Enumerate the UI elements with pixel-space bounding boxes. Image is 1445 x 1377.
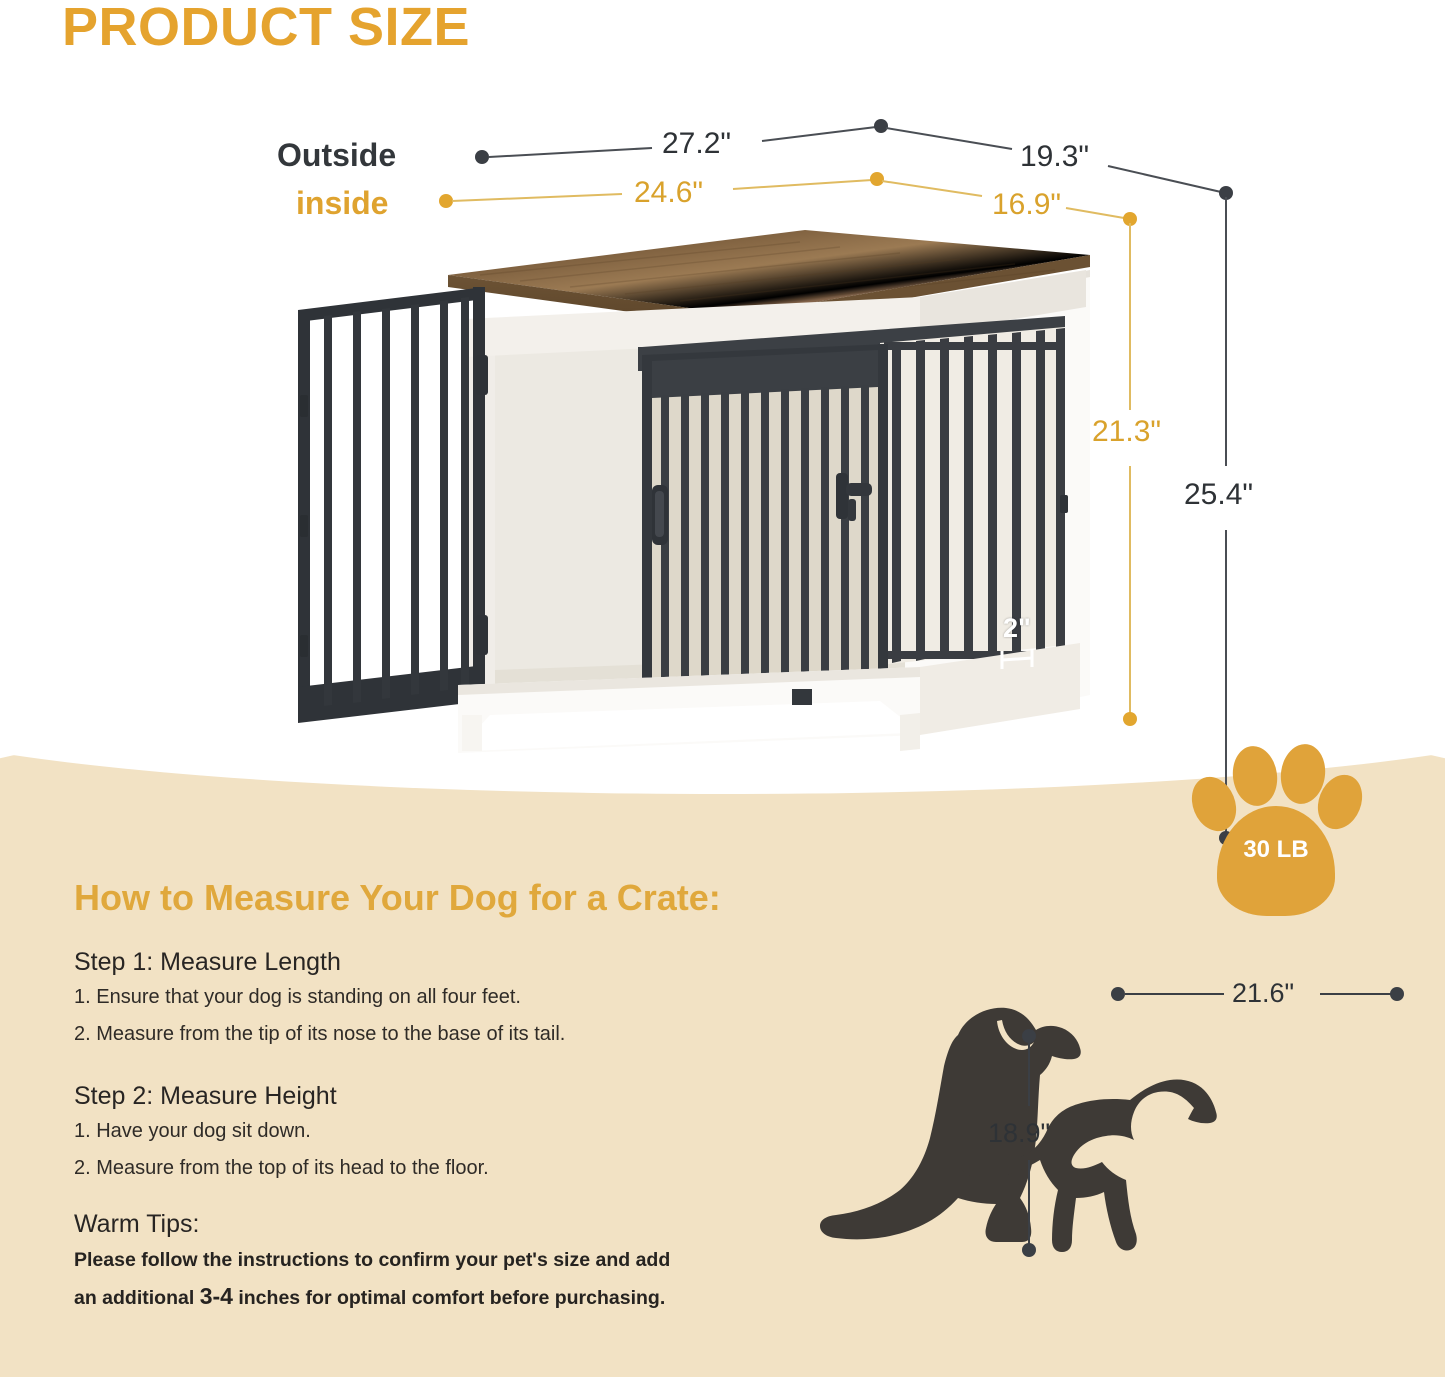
inside-width-start-dot: [439, 194, 453, 208]
dim-inside-height: 21.3": [1092, 415, 1161, 449]
step2-item-1: 1. Have your dog sit down.: [74, 1121, 794, 1141]
step1-title: Step 1: Measure Length: [74, 948, 794, 977]
crate-left-open-door: [298, 285, 485, 723]
measure-instructions: Step 1: Measure Length 1. Ensure that yo…: [74, 948, 794, 1322]
dim-outside-height: 25.4": [1184, 478, 1253, 512]
page-title: PRODUCT SIZE: [62, 0, 470, 58]
warm-tips-line-1: Please follow the instructions to confir…: [74, 1251, 794, 1271]
dim-dog-length: 21.6": [1232, 978, 1294, 1009]
inside-depth-end-dot: [1123, 212, 1137, 226]
dog-crate-illustration: 2": [280, 215, 1090, 760]
step1-item-1: 1. Ensure that your dog is standing on a…: [74, 987, 794, 1007]
step1-item-2: 2. Measure from the tip of its nose to t…: [74, 1024, 794, 1044]
warm-tips-title: Warm Tips:: [74, 1210, 794, 1239]
section-title-how-to-measure: How to Measure Your Dog for a Crate:: [74, 877, 721, 919]
outside-apex-dot: [874, 119, 888, 133]
dog-silhouettes-svg: [790, 980, 1410, 1280]
dim-inside-depth: 16.9": [992, 188, 1061, 222]
crate-front-door: [642, 344, 888, 722]
step2-item-2: 2. Measure from the top of its head to t…: [74, 1158, 794, 1178]
outside-depth-end-dot: [1219, 186, 1233, 200]
bar-spacing-arrow-icon: [998, 647, 1044, 673]
warm-tips-line-2: an additional 3-4 inches for optimal com…: [74, 1285, 794, 1309]
door-handle: [652, 485, 668, 545]
bar-spacing-label: 2": [1003, 613, 1031, 644]
dim-outside-depth: 19.3": [1020, 140, 1089, 174]
step2-title: Step 2: Measure Height: [74, 1082, 794, 1111]
crate-right-bar-panel: [880, 327, 1065, 665]
outside-width-start-dot: [475, 150, 489, 164]
weight-badge-label: 30 LB: [1217, 836, 1335, 864]
dim-outside-width: 27.2": [662, 127, 731, 161]
weight-badge-paw-icon: 30 LB: [1185, 738, 1365, 898]
crate-svg: [280, 215, 1090, 760]
infographic-canvas: PRODUCT SIZE Outside inside: [0, 0, 1445, 1377]
dim-inside-width: 24.6": [634, 176, 703, 210]
warm-tips-extra-inches: 3-4: [200, 1283, 233, 1309]
inside-apex-dot: [870, 172, 884, 186]
dim-dog-height: 18.9": [988, 1118, 1050, 1149]
warm-tips-line2-part-a: an additional: [74, 1287, 200, 1309]
dog-measurement-diagram: [790, 980, 1410, 1280]
legend-outside-label: Outside: [277, 137, 396, 174]
warm-tips-line2-part-c: inches for optimal comfort before purcha…: [233, 1287, 665, 1309]
paw-toe-2: [1229, 743, 1281, 809]
